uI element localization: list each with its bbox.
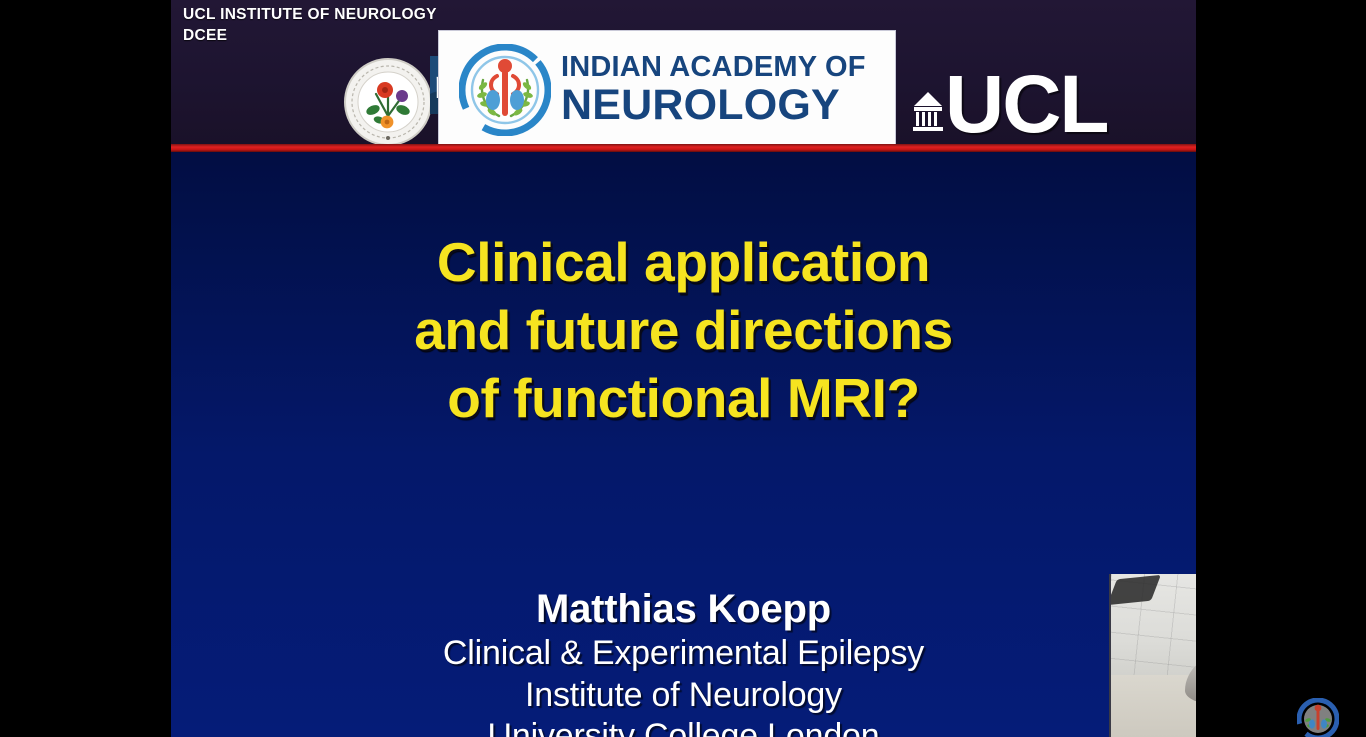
slide-title-line-3: of functional MRI? [171, 364, 1196, 432]
caduceus-laurel-emblem-icon [459, 44, 551, 136]
ian-wordmark-line-2: NEUROLOGY [561, 84, 866, 127]
indian-academy-of-neurology-watermark [1297, 698, 1339, 737]
department-line-secondary: DCEE [183, 27, 227, 45]
ian-wordmark: INDIAN ACADEMY OF NEUROLOGY [561, 53, 866, 127]
presenter-block: Matthias Koepp Clinical & Experimental E… [171, 586, 1196, 737]
presenter-affiliation-line-3: University College London [171, 716, 1196, 737]
department-line-primary: UCL INSTITUTE OF NEUROLOGY [183, 6, 437, 24]
indian-academy-of-neurology-logo: INDIAN ACADEMY OF NEUROLOGY [438, 30, 896, 150]
slide-title-line-2: and future directions [171, 296, 1196, 364]
presentation-slide: UCL INSTITUTE OF NEUROLOGY DCEE [171, 0, 1196, 737]
presenter-webcam-overlay[interactable] [1109, 574, 1196, 737]
webcam-person-hair [1185, 652, 1196, 704]
presenter-name: Matthias Koepp [171, 586, 1196, 633]
slide-title: Clinical application and future directio… [171, 228, 1196, 433]
ucl-wordmark-text: UCL [945, 71, 1108, 140]
header-red-rule [171, 144, 1196, 152]
slide-title-line-1: Clinical application [171, 228, 1196, 296]
video-stage: UCL INSTITUTE OF NEUROLOGY DCEE [0, 0, 1366, 737]
ian-wordmark-line-1: INDIAN ACADEMY OF [561, 53, 866, 82]
ucl-portico-icon [911, 90, 945, 134]
slide-header-band: UCL INSTITUTE OF NEUROLOGY DCEE [171, 0, 1196, 144]
flower-seal-icon [343, 58, 433, 146]
ucl-logo: UCL [911, 56, 1108, 140]
webcam-person [1179, 652, 1196, 737]
presenter-affiliation-line-2: Institute of Neurology [171, 675, 1196, 716]
presenter-affiliation-line-1: Clinical & Experimental Epilepsy [171, 633, 1196, 674]
